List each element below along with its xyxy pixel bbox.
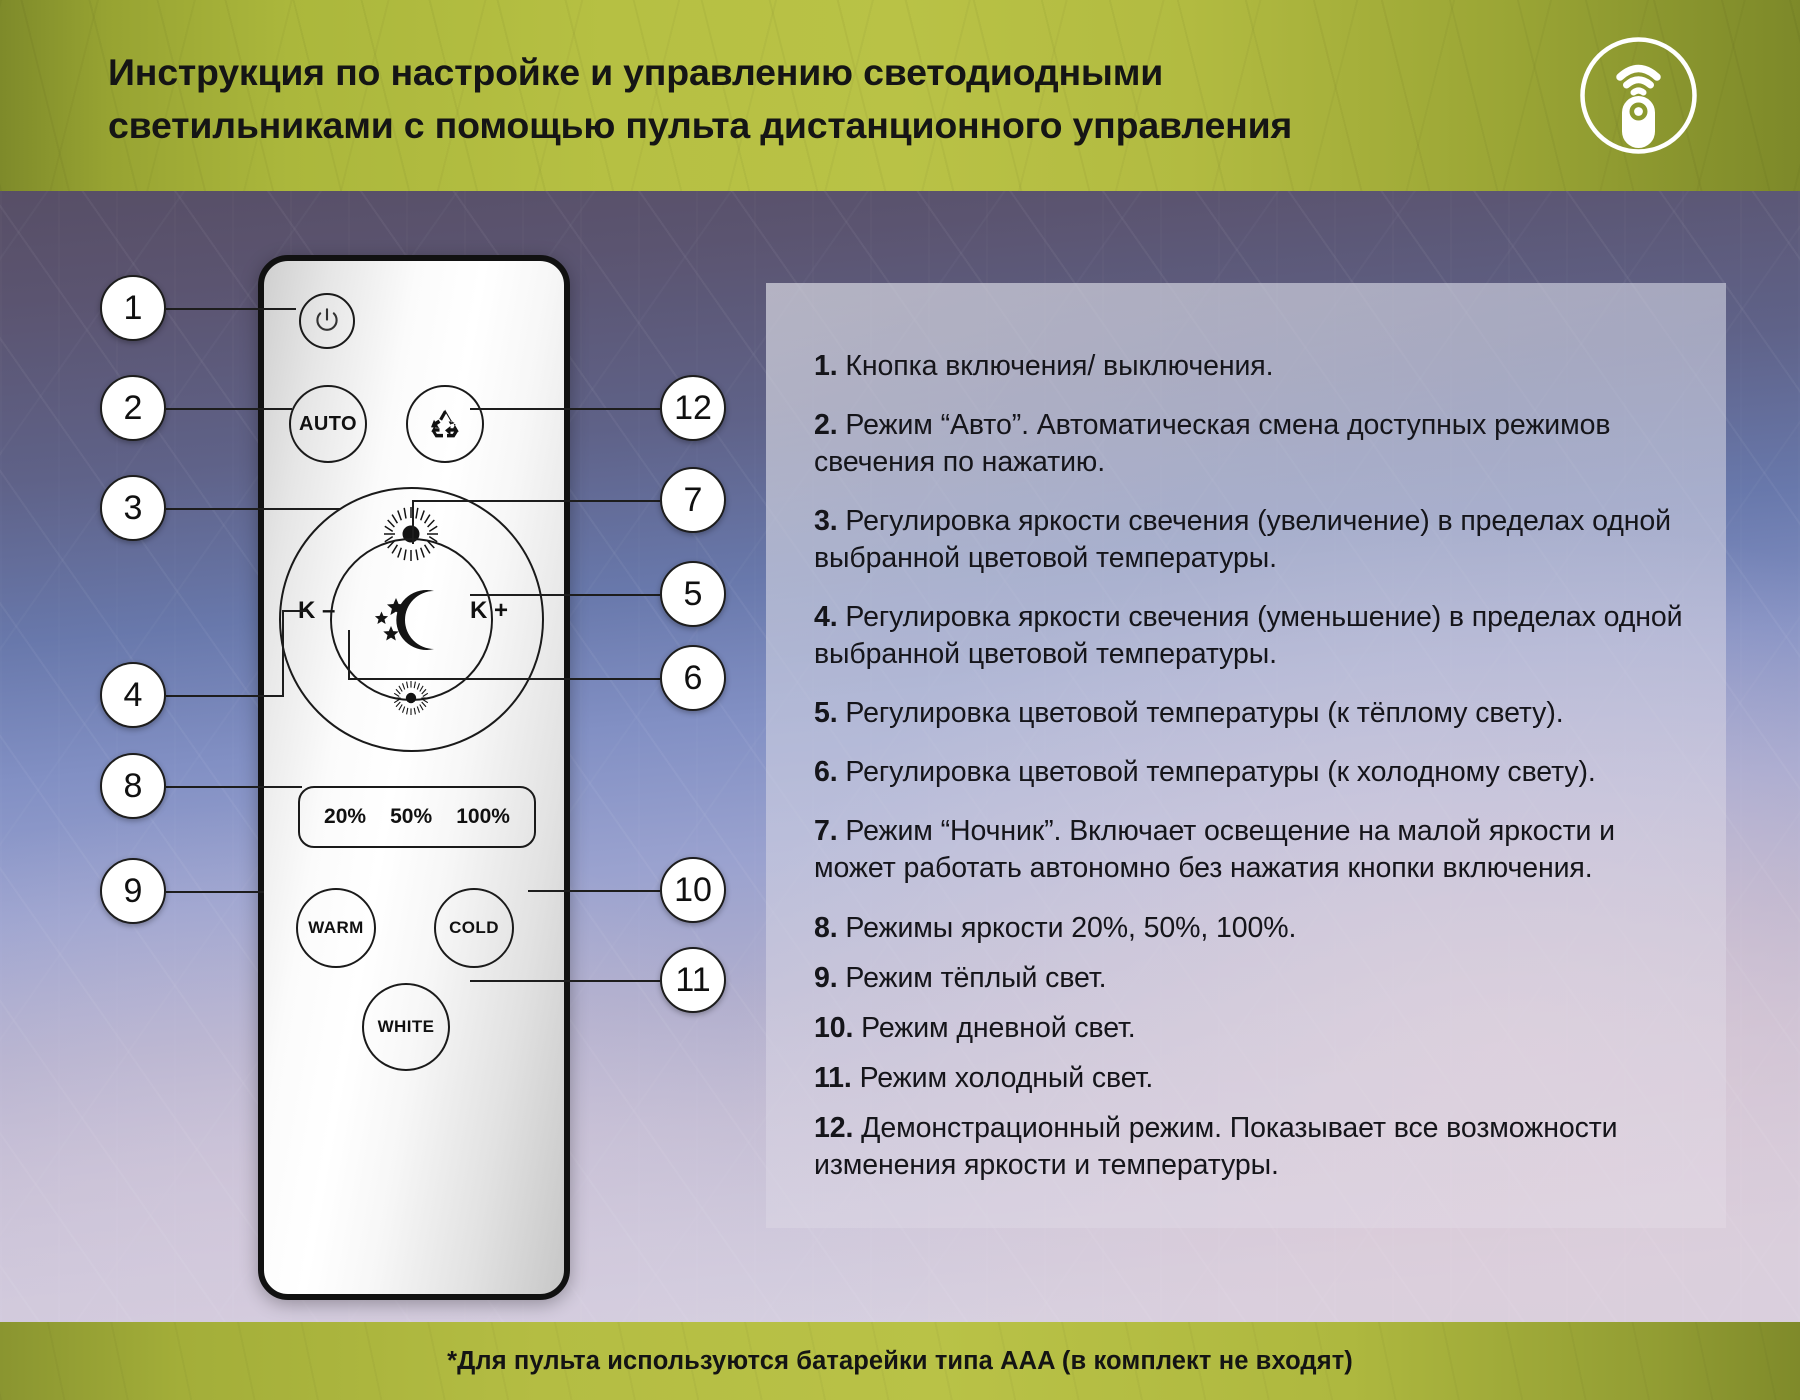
- instruction-item-12: 12. Демонстрационный режим. Показывает в…: [814, 1110, 1694, 1184]
- brightness-level-20[interactable]: 20%: [324, 805, 366, 829]
- instruction-item-6: 6. Регулировка цветовой температуры (к х…: [814, 754, 1694, 791]
- instruction-text-11: Режим холодный свет.: [860, 1062, 1154, 1094]
- leader-line-10: [528, 890, 660, 892]
- instruction-text-4: Регулировка яркости свечения (уменьшение…: [814, 601, 1682, 670]
- instruction-text-9: Режим тёплый свет.: [845, 962, 1106, 994]
- instruction-number-7: 7.: [814, 815, 838, 847]
- page-title: Инструкция по настройке и управлению све…: [108, 46, 1368, 153]
- leader-line-9: [166, 891, 264, 893]
- instruction-text-8: Режимы яркости 20%, 50%, 100%.: [845, 912, 1296, 944]
- leader-line-3: [166, 508, 340, 510]
- page-title-line-2: светильниками с помощью пульта дистанцио…: [108, 99, 1368, 152]
- cold-button[interactable]: COLD: [434, 888, 514, 968]
- leader-line-7a: [412, 500, 660, 502]
- leader-line-6a: [348, 678, 660, 680]
- leader-line-1: [166, 308, 296, 310]
- instruction-text-12: Демонстрационный режим. Показывает все в…: [814, 1112, 1618, 1181]
- warm-button-label: WARM: [308, 918, 363, 938]
- leader-line-4c: [282, 610, 306, 612]
- leader-line-4b: [282, 610, 284, 697]
- callout-11[interactable]: 11: [660, 947, 726, 1013]
- callout-3[interactable]: 3: [100, 475, 166, 541]
- leader-line-7b: [412, 500, 414, 544]
- callout-10[interactable]: 10: [660, 857, 726, 923]
- leader-line-8: [166, 786, 302, 788]
- demo-button[interactable]: [406, 385, 484, 463]
- power-icon: [312, 306, 342, 336]
- page-title-line-1: Инструкция по настройке и управлению све…: [108, 46, 1368, 99]
- footer-bar: *Для пульта используются батарейки типа …: [0, 1322, 1800, 1400]
- brightness-level-50[interactable]: 50%: [390, 805, 432, 829]
- recycle-arrows-icon: [423, 402, 467, 446]
- instruction-number-4: 4.: [814, 601, 838, 633]
- instructions-list: 1. Кнопка включения/ выключения. 2. Режи…: [814, 348, 1694, 1184]
- instruction-item-8: 8. Режимы яркости 20%, 50%, 100%.: [814, 910, 1694, 947]
- brightness-levels-group[interactable]: 20% 50% 100%: [298, 786, 536, 848]
- leader-line-2: [166, 408, 292, 410]
- power-button[interactable]: [299, 293, 355, 349]
- white-button-label: WHITE: [378, 1017, 435, 1037]
- instruction-item-1: 1. Кнопка включения/ выключения.: [814, 348, 1694, 385]
- moon-stars-icon: [362, 580, 462, 660]
- brightness-level-100[interactable]: 100%: [456, 805, 510, 829]
- callout-4[interactable]: 4: [100, 662, 166, 728]
- leader-line-12: [470, 408, 660, 410]
- white-button[interactable]: WHITE: [362, 983, 450, 1071]
- instruction-text-5: Регулировка цветовой температуры (к тёпл…: [845, 697, 1563, 729]
- instruction-text-7: Режим “Ночник”. Включает освещение на ма…: [814, 815, 1615, 884]
- leader-line-5: [470, 594, 660, 596]
- warm-button[interactable]: WARM: [296, 888, 376, 968]
- infographic-page: Инструкция по настройке и управлению све…: [0, 0, 1800, 1400]
- instruction-text-1: Кнопка включения/ выключения.: [845, 350, 1273, 382]
- cold-button-label: COLD: [449, 918, 499, 938]
- instruction-text-6: Регулировка цветовой температуры (к холо…: [845, 756, 1595, 788]
- instruction-item-7: 7. Режим “Ночник”. Включает освещение на…: [814, 813, 1694, 887]
- instruction-number-2: 2.: [814, 409, 838, 441]
- callout-2[interactable]: 2: [100, 375, 166, 441]
- callout-8[interactable]: 8: [100, 753, 166, 819]
- night-mode-button[interactable]: [330, 538, 493, 701]
- instruction-number-3: 3.: [814, 505, 838, 537]
- header-bar: Инструкция по настройке и управлению све…: [0, 0, 1800, 191]
- instruction-item-9: 9. Режим тёплый свет.: [814, 960, 1694, 997]
- instruction-text-2: Режим “Авто”. Автоматическая смена досту…: [814, 409, 1610, 478]
- sun-dim-icon[interactable]: [392, 679, 430, 717]
- instruction-number-12: 12.: [814, 1112, 853, 1144]
- callout-12[interactable]: 12: [660, 375, 726, 441]
- callout-6[interactable]: 6: [660, 645, 726, 711]
- callout-9[interactable]: 9: [100, 858, 166, 924]
- instruction-number-6: 6.: [814, 756, 838, 788]
- instruction-number-1: 1.: [814, 350, 838, 382]
- battery-note: *Для пульта используются батарейки типа …: [0, 1322, 1800, 1400]
- callout-5[interactable]: 5: [660, 561, 726, 627]
- leader-line-4a: [166, 695, 282, 697]
- instruction-item-4: 4. Регулировка яркости свечения (уменьше…: [814, 599, 1694, 673]
- auto-button[interactable]: AUTO: [289, 385, 367, 463]
- remote-control-signal-icon: [1576, 33, 1701, 158]
- instruction-item-10: 10. Режим дневной свет.: [814, 1010, 1694, 1047]
- instruction-item-3: 3. Регулировка яркости свечения (увеличе…: [814, 503, 1694, 577]
- instruction-item-5: 5. Регулировка цветовой температуры (к т…: [814, 695, 1694, 732]
- auto-button-label: AUTO: [299, 413, 357, 436]
- callout-1[interactable]: 1: [100, 275, 166, 341]
- instruction-item-2: 2. Режим “Авто”. Автоматическая смена до…: [814, 407, 1694, 481]
- leader-line-11: [470, 980, 660, 982]
- instruction-number-10: 10.: [814, 1012, 853, 1044]
- instruction-number-9: 9.: [814, 962, 838, 994]
- callout-7[interactable]: 7: [660, 467, 726, 533]
- instruction-number-5: 5.: [814, 697, 838, 729]
- instruction-text-10: Режим дневной свет.: [861, 1012, 1135, 1044]
- instruction-text-3: Регулировка яркости свечения (увеличение…: [814, 505, 1671, 574]
- instruction-item-11: 11. Режим холодный свет.: [814, 1060, 1694, 1097]
- instruction-number-8: 8.: [814, 912, 838, 944]
- instruction-number-11: 11.: [814, 1062, 852, 1094]
- leader-line-6b: [348, 630, 350, 680]
- remote-control-body: AUTO: [258, 255, 570, 1300]
